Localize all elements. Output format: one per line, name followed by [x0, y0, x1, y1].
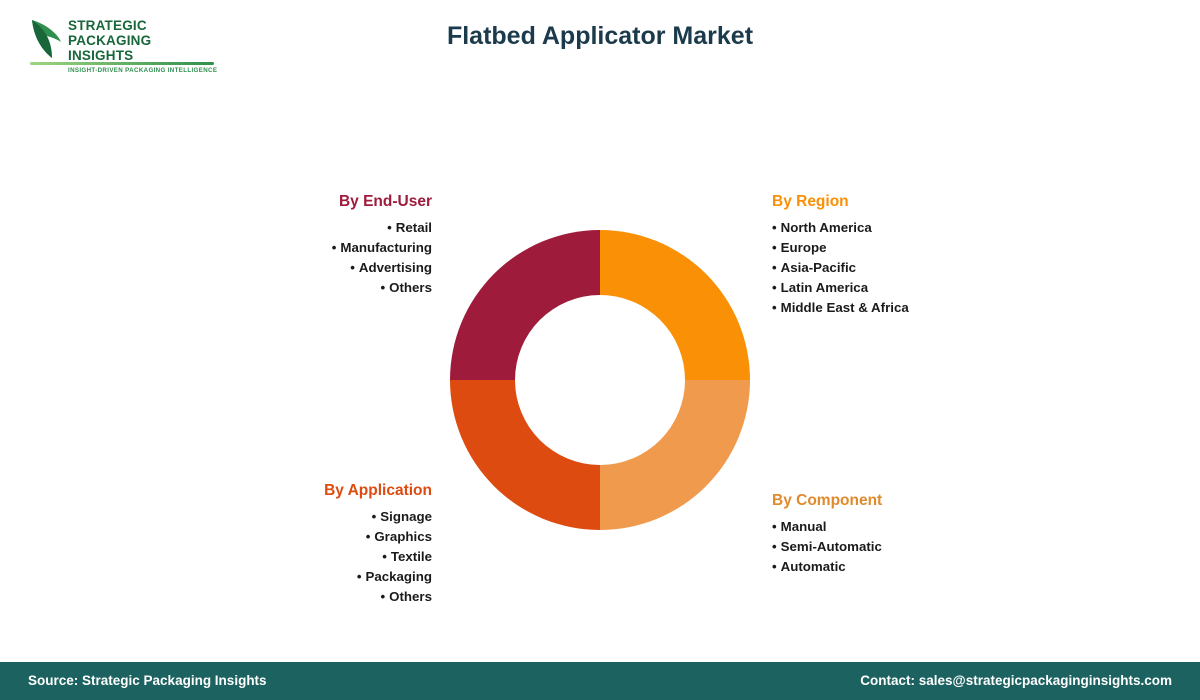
bullet-icon: • [357, 569, 362, 584]
list-item-label: Manual [781, 519, 827, 534]
list-item: •Manual [772, 517, 1072, 537]
list-item-label: North America [781, 220, 872, 235]
list-item: •Automatic [772, 557, 1072, 577]
list-item: •Retail [188, 218, 432, 238]
bullet-icon: • [366, 529, 371, 544]
logo-tagline: INSIGHT-DRIVEN PACKAGING INTELLIGENCE [68, 67, 217, 74]
list-item: •Packaging [188, 567, 432, 587]
list-item-label: Signage [380, 509, 432, 524]
segment-region-title: By Region [772, 193, 1072, 211]
list-item-label: Textile [391, 549, 432, 564]
donut-chart-svg [450, 230, 750, 530]
bullet-icon: • [332, 240, 337, 255]
segment-region: By Region •North America •Europe •Asia-P… [772, 193, 1072, 318]
list-item: •Asia-Pacific [772, 258, 1072, 278]
list-item-label: Asia-Pacific [781, 260, 856, 275]
bullet-icon: • [350, 260, 355, 275]
logo-underline-rule [30, 62, 214, 65]
bullet-icon: • [772, 300, 777, 315]
bullet-icon: • [372, 509, 377, 524]
list-item-label: Manufacturing [340, 240, 432, 255]
bullet-icon: • [772, 280, 777, 295]
list-item: •Middle East & Africa [772, 298, 1072, 318]
list-item-label: Others [389, 280, 432, 295]
segment-application-list: •Signage •Graphics •Textile •Packaging •… [188, 507, 432, 607]
segment-application-title: By Application [188, 482, 432, 500]
list-item: •Semi-Automatic [772, 537, 1072, 557]
donut-hole [515, 295, 685, 465]
footer-bar: Source: Strategic Packaging Insights Con… [0, 662, 1200, 700]
list-item: •Signage [188, 507, 432, 527]
list-item-label: Packaging [365, 569, 432, 584]
bullet-icon: • [382, 549, 387, 564]
bullet-icon: • [772, 260, 777, 275]
segment-end-user: By End-User •Retail •Manufacturing •Adve… [188, 193, 432, 298]
footer-source: Source: Strategic Packaging Insights [28, 673, 267, 688]
list-item: •Manufacturing [188, 238, 432, 258]
bullet-icon: • [772, 220, 777, 235]
bullet-icon: • [772, 519, 777, 534]
list-item-label: Graphics [374, 529, 432, 544]
bullet-icon: • [380, 280, 385, 295]
segment-component-list: •Manual •Semi-Automatic •Automatic [772, 517, 1072, 577]
segment-region-list: •North America •Europe •Asia-Pacific •La… [772, 218, 1072, 318]
bullet-icon: • [772, 240, 777, 255]
list-item-label: Middle East & Africa [781, 300, 909, 315]
donut-chart [450, 230, 750, 530]
list-item-label: Advertising [359, 260, 432, 275]
bullet-icon: • [380, 589, 385, 604]
list-item-label: Latin America [781, 280, 868, 295]
list-item: •Others [188, 587, 432, 607]
segment-end-user-list: •Retail •Manufacturing •Advertising •Oth… [188, 218, 432, 298]
list-item: •Textile [188, 547, 432, 567]
list-item: •Graphics [188, 527, 432, 547]
list-item-label: Retail [396, 220, 432, 235]
list-item: •Others [188, 278, 432, 298]
list-item-label: Others [389, 589, 432, 604]
list-item: •Latin America [772, 278, 1072, 298]
segment-component-title: By Component [772, 492, 1072, 510]
footer-contact: Contact: sales@strategicpackaginginsight… [860, 673, 1172, 688]
segment-end-user-title: By End-User [188, 193, 432, 211]
bullet-icon: • [772, 559, 777, 574]
list-item: •Advertising [188, 258, 432, 278]
list-item: •North America [772, 218, 1072, 238]
list-item-label: Automatic [781, 559, 846, 574]
list-item: •Europe [772, 238, 1072, 258]
bullet-icon: • [772, 539, 777, 554]
list-item-label: Semi-Automatic [781, 539, 882, 554]
bullet-icon: • [387, 220, 392, 235]
segment-component: By Component •Manual •Semi-Automatic •Au… [772, 492, 1072, 577]
segment-application: By Application •Signage •Graphics •Texti… [188, 482, 432, 607]
page-title: Flatbed Applicator Market [0, 22, 1200, 51]
list-item-label: Europe [781, 240, 827, 255]
